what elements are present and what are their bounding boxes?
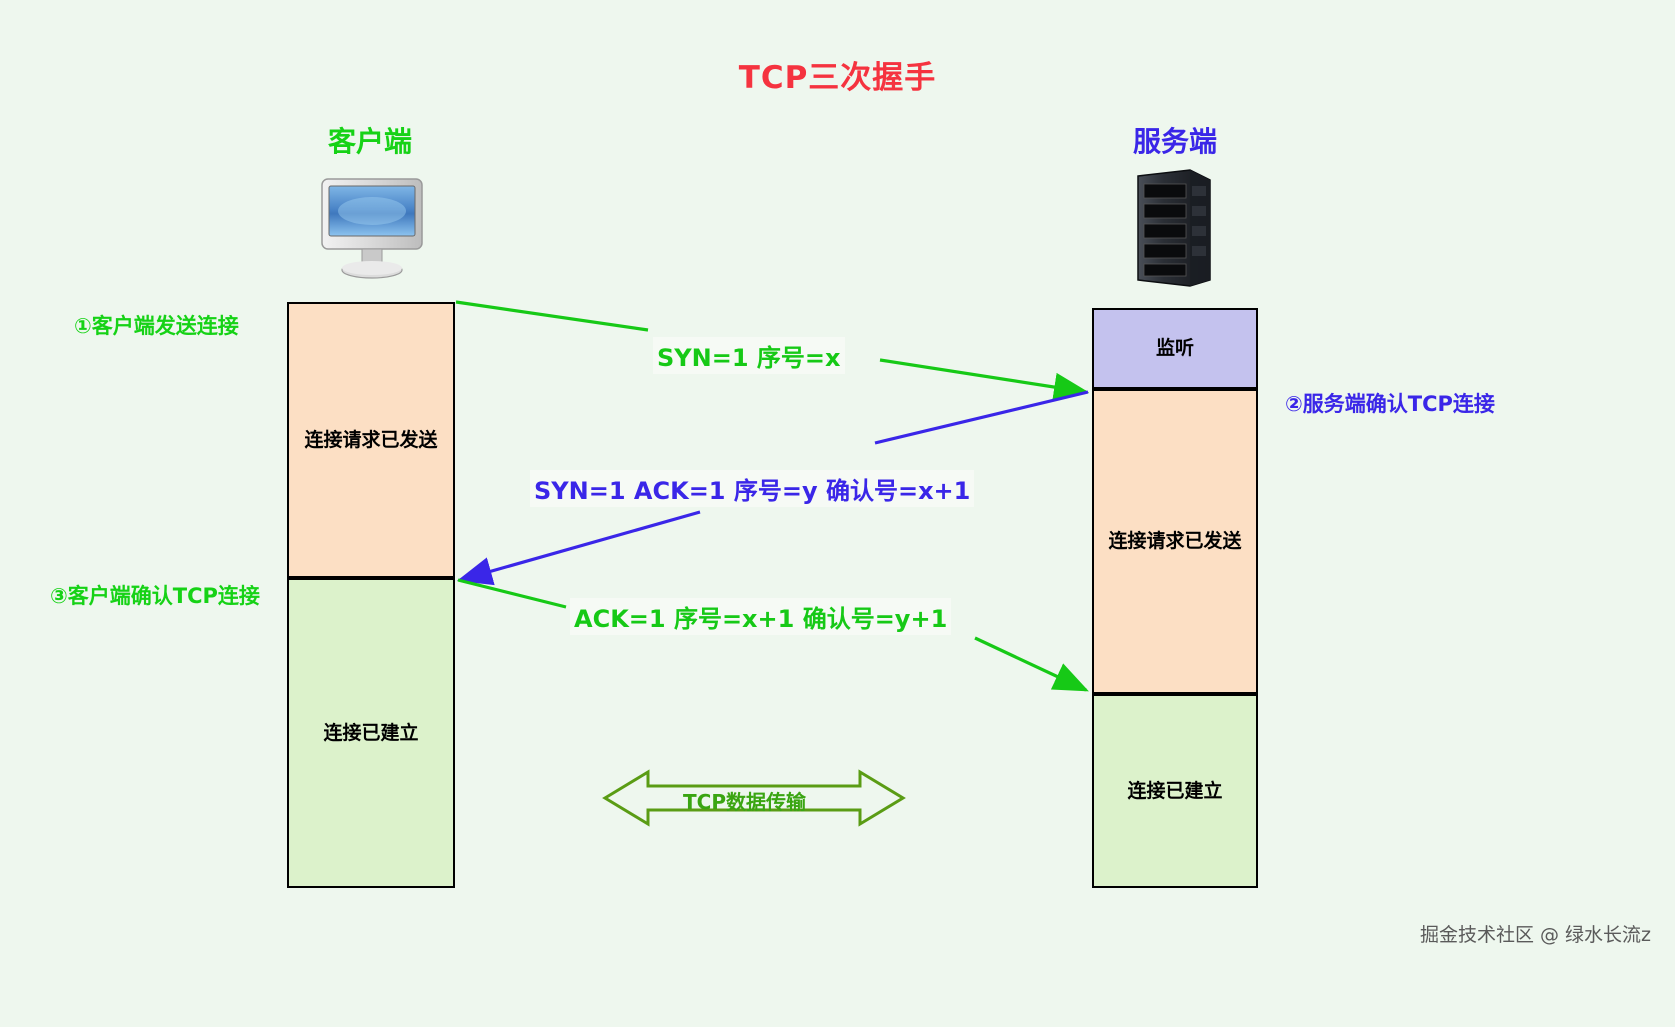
server-state-box-1: 监听 <box>1092 308 1258 389</box>
page-title: TCP三次握手 <box>0 52 1675 97</box>
desktop-computer-icon <box>318 175 426 285</box>
client-state-box-1: 连接请求已发送 <box>287 302 455 578</box>
client-label: 客户端 <box>270 120 470 160</box>
diagram-canvas: TCP三次握手 客户端 服务端 <box>0 0 1675 1027</box>
message-label-ack: ACK=1 序号=x+1 确认号=y+1 <box>570 598 951 635</box>
server-state-box-3: 连接已建立 <box>1092 694 1258 888</box>
server-label: 服务端 <box>1075 120 1275 160</box>
client-state-1-label: 连接请求已发送 <box>304 428 437 453</box>
arrows-overlay <box>0 0 1675 1027</box>
server-state-1-label: 监听 <box>1156 336 1194 361</box>
annotation-step-3: ③客户端确认TCP连接 <box>50 580 260 610</box>
server-state-3-label: 连接已建立 <box>1127 779 1222 804</box>
watermark: 掘金技术社区 @ 绿水长流z <box>1420 920 1651 947</box>
message-label-syn-ack: SYN=1 ACK=1 序号=y 确认号=x+1 <box>530 470 974 507</box>
data-transfer-label: TCP数据传输 <box>683 786 806 815</box>
message-label-syn: SYN=1 序号=x <box>653 337 845 374</box>
arrow-ack <box>458 580 1086 690</box>
client-state-2-label: 连接已建立 <box>323 721 418 746</box>
annotation-step-1: ①客户端发送连接 <box>74 310 239 340</box>
server-state-box-2: 连接请求已发送 <box>1092 389 1258 694</box>
client-state-box-2: 连接已建立 <box>287 578 455 888</box>
server-rack-icon <box>1128 168 1220 288</box>
server-state-2-label: 连接请求已发送 <box>1108 529 1241 554</box>
annotation-step-2: ②服务端确认TCP连接 <box>1285 388 1495 418</box>
